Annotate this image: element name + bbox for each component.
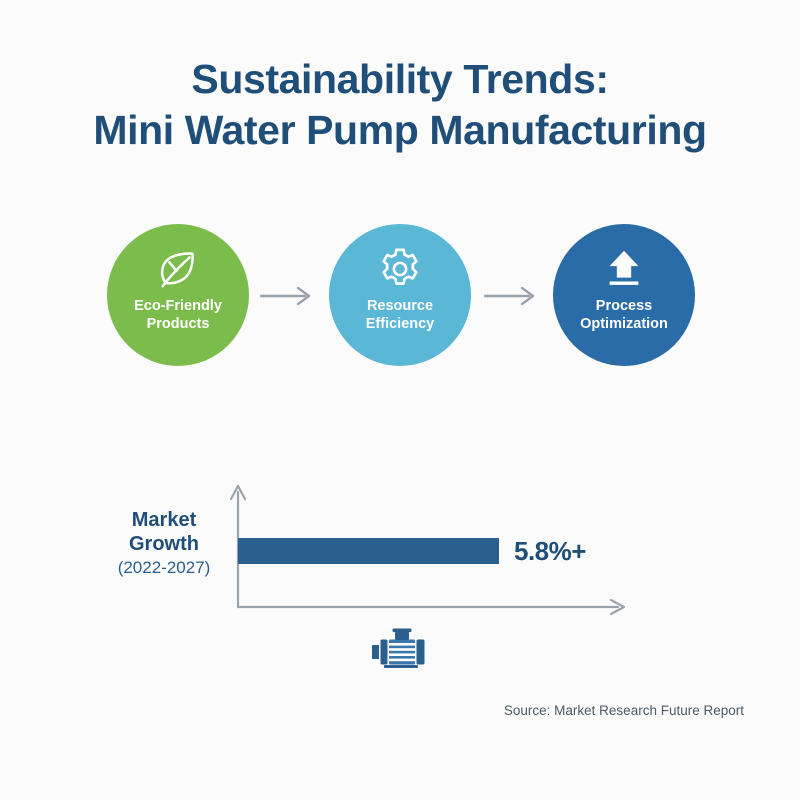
- page-title: Sustainability Trends: Mini Water Pump M…: [0, 54, 800, 156]
- process-step-label-2-line1: Resource: [341, 297, 459, 315]
- flow-arrow-1-icon: [260, 285, 314, 307]
- process-flow-diagram: Eco-Friendly Products Resource Efficienc…: [0, 224, 800, 389]
- bar-category-label-line1: Market: [95, 508, 233, 532]
- water-pump-icon: [372, 626, 432, 678]
- process-step-eco-friendly-products[interactable]: Eco-Friendly Products: [107, 224, 249, 366]
- bar-category-label-line3: (2022-2027): [95, 556, 233, 580]
- gear-icon: [377, 246, 423, 292]
- bar-category-label: Market Growth (2022-2027): [95, 508, 233, 580]
- process-step-label-2: Resource Efficiency: [341, 297, 459, 333]
- process-step-label-3-line1: Process: [565, 297, 683, 315]
- infographic-canvas: Sustainability Trends: Mini Water Pump M…: [0, 0, 800, 800]
- process-step-resource-efficiency[interactable]: Resource Efficiency: [329, 224, 471, 366]
- process-step-label-3-line2: Optimization: [565, 315, 683, 333]
- title-line-2: Mini Water Pump Manufacturing: [0, 105, 800, 156]
- process-step-label-2-line2: Efficiency: [341, 315, 459, 333]
- bar-category-label-line2: Growth: [95, 532, 233, 556]
- bar-market-growth[interactable]: [238, 538, 499, 564]
- flow-arrow-2-icon: [484, 285, 538, 307]
- process-step-label-1-line1: Eco-Friendly: [119, 297, 237, 315]
- process-step-label-1-line2: Products: [119, 315, 237, 333]
- market-growth-bar-chart: Market Growth (2022-2027) 5.8%+: [0, 470, 800, 630]
- title-line-1: Sustainability Trends:: [0, 54, 800, 105]
- process-step-label-3: Process Optimization: [565, 297, 683, 333]
- source-caption: Source: Market Research Future Report: [504, 703, 744, 718]
- process-step-label-1: Eco-Friendly Products: [119, 297, 237, 333]
- leaf-icon: [155, 246, 201, 292]
- process-step-process-optimization[interactable]: Process Optimization: [553, 224, 695, 366]
- up-arrow-icon: [601, 246, 647, 292]
- bar-value-label: 5.8%+: [514, 536, 586, 567]
